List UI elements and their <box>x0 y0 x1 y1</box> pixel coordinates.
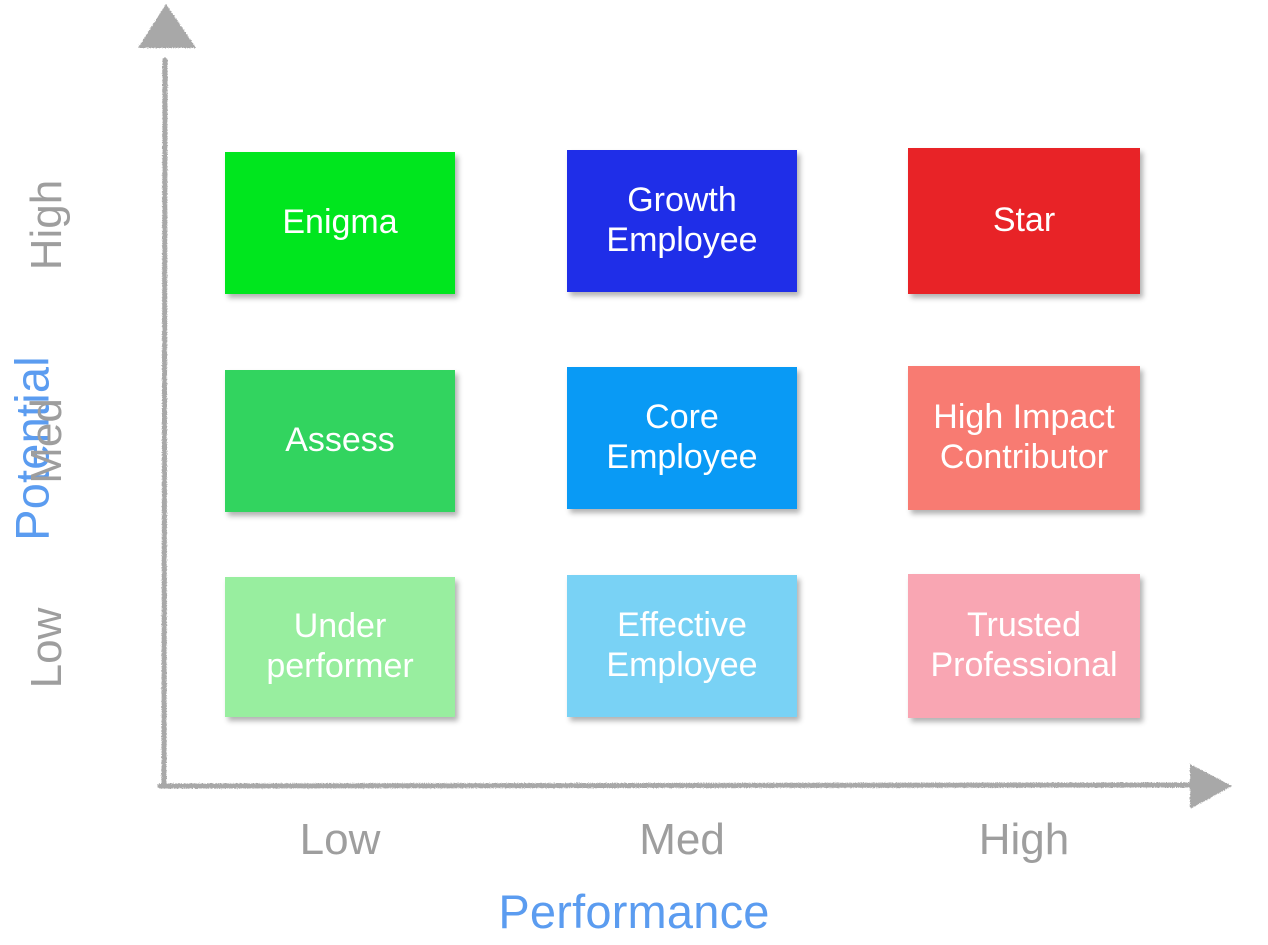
cell-high-low[interactable]: Enigma <box>225 152 455 294</box>
cell-med-high[interactable]: High Impact Contributor <box>908 366 1140 510</box>
x-axis-title: Performance <box>0 884 1268 939</box>
cell-high-med[interactable]: Growth Employee <box>567 150 797 292</box>
y-tick-low: Low <box>22 558 72 738</box>
cell-low-low[interactable]: Under performer <box>225 577 455 717</box>
nine-box-grid-diagram: Potential Performance High Med Low Low M… <box>0 0 1268 945</box>
x-tick-high: High <box>904 815 1144 865</box>
cell-high-high[interactable]: Star <box>908 148 1140 294</box>
x-tick-med: Med <box>562 815 802 865</box>
x-tick-low: Low <box>220 815 460 865</box>
cell-low-med[interactable]: Effective Employee <box>567 575 797 717</box>
y-tick-med: Med <box>22 351 72 531</box>
cell-med-low[interactable]: Assess <box>225 370 455 512</box>
cell-low-high[interactable]: Trusted Professional <box>908 574 1140 718</box>
cell-med-med[interactable]: Core Employee <box>567 367 797 509</box>
y-tick-high: High <box>22 135 72 315</box>
